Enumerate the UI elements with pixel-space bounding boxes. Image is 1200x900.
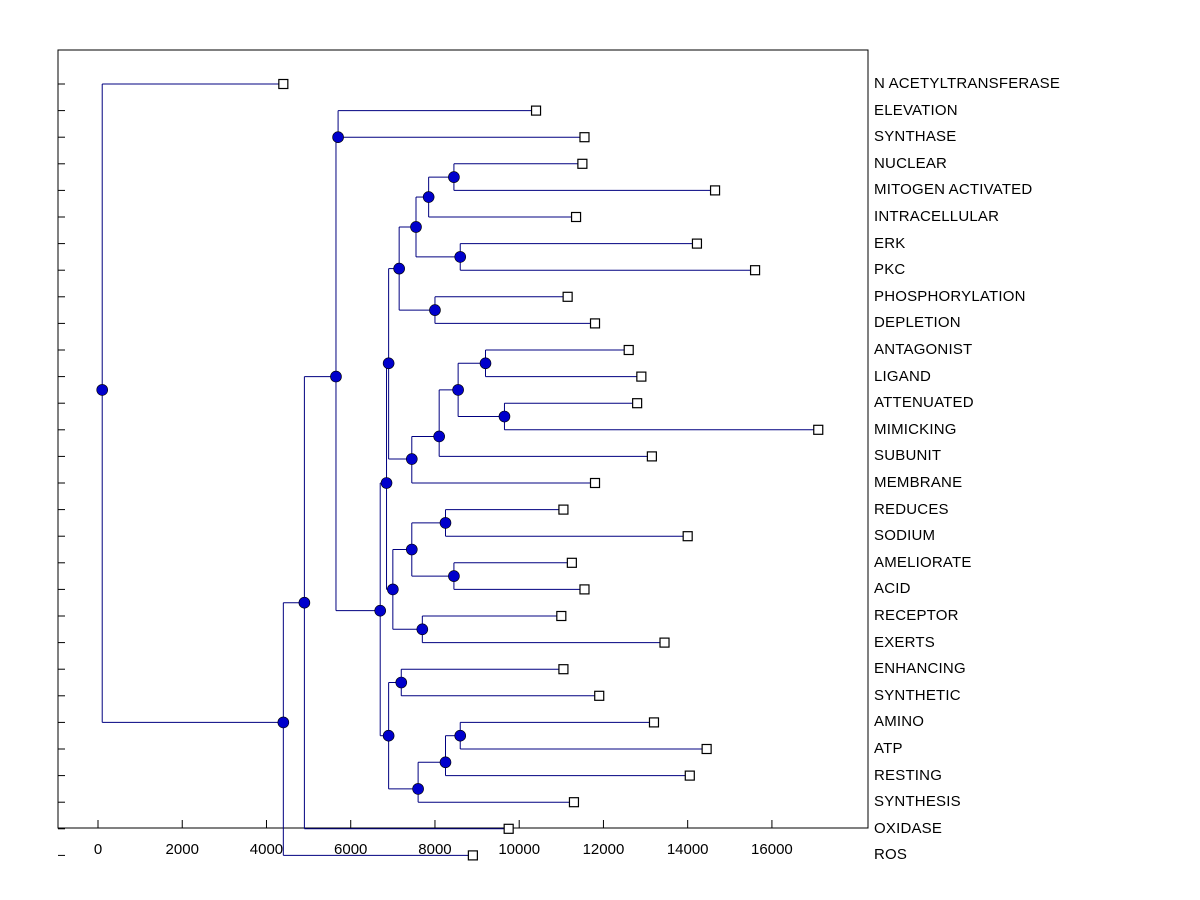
cluster-node[interactable] — [411, 221, 422, 232]
leaf-label: ATP — [874, 741, 903, 756]
x-axis-tick-label: 2000 — [166, 841, 199, 858]
cluster-node[interactable] — [330, 371, 341, 382]
leaf-label: EXERTS — [874, 635, 935, 650]
leaf-label: SYNTHESIS — [874, 794, 961, 809]
cluster-node[interactable] — [406, 454, 417, 465]
leaf-label: MIMICKING — [874, 422, 957, 437]
cluster-node[interactable] — [455, 730, 466, 741]
leaf-label: AMINO — [874, 714, 924, 729]
cluster-node[interactable] — [440, 517, 451, 528]
leaf-label: ENHANCING — [874, 661, 966, 676]
cluster-node[interactable] — [97, 384, 108, 395]
cluster-node[interactable] — [383, 358, 394, 369]
leaf-marker — [814, 425, 823, 434]
leaf-marker — [468, 851, 477, 860]
cluster-node[interactable] — [383, 730, 394, 741]
leaf-marker — [751, 266, 760, 275]
leaf-label: LIGAND — [874, 369, 931, 384]
cluster-node[interactable] — [394, 263, 405, 274]
leaf-marker — [559, 505, 568, 514]
leaf-marker — [563, 292, 572, 301]
leaf-label: ROS — [874, 847, 907, 862]
x-axis-tick-label: 4000 — [250, 841, 283, 858]
cluster-node[interactable] — [333, 132, 344, 143]
leaf-label: MITOGEN ACTIVATED — [874, 182, 1032, 197]
leaf-marker — [569, 798, 578, 807]
cluster-node[interactable] — [387, 584, 398, 595]
cluster-node[interactable] — [413, 783, 424, 794]
leaf-marker — [633, 399, 642, 408]
cluster-node[interactable] — [429, 305, 440, 316]
leaf-marker — [578, 159, 587, 168]
leaf-marker — [591, 319, 600, 328]
leaf-marker — [647, 452, 656, 461]
cluster-node[interactable] — [417, 624, 428, 635]
leaf-marker — [685, 771, 694, 780]
leaf-marker — [567, 558, 576, 567]
leaf-label: ATTENUATED — [874, 395, 974, 410]
leaf-marker — [557, 612, 566, 621]
x-axis-tick-label: 14000 — [667, 841, 709, 858]
cluster-node[interactable] — [499, 411, 510, 422]
leaf-marker — [504, 824, 513, 833]
leaf-label: RESTING — [874, 768, 942, 783]
leaf-label: RECEPTOR — [874, 608, 959, 623]
leaf-label: ACID — [874, 581, 911, 596]
leaf-label: OXIDASE — [874, 821, 942, 836]
leaf-marker — [692, 239, 701, 248]
leaf-label: DEPLETION — [874, 315, 961, 330]
leaf-marker — [532, 106, 541, 115]
cluster-node[interactable] — [396, 677, 407, 688]
leaf-marker — [711, 186, 720, 195]
leaf-label: SUBUNIT — [874, 448, 941, 463]
x-axis-tick-label: 0 — [94, 841, 102, 858]
dendrogram-figure: 0200040006000800010000120001400016000 N … — [0, 0, 1200, 900]
leaf-marker — [660, 638, 669, 647]
x-axis-tick-label: 10000 — [498, 841, 540, 858]
cluster-node[interactable] — [299, 597, 310, 608]
cluster-node[interactable] — [455, 251, 466, 262]
cluster-node[interactable] — [480, 358, 491, 369]
leaf-label: PHOSPHORYLATION — [874, 289, 1026, 304]
leaf-label: SODIUM — [874, 528, 935, 543]
cluster-node[interactable] — [434, 431, 445, 442]
leaf-label: REDUCES — [874, 502, 949, 517]
cluster-node[interactable] — [423, 192, 434, 203]
x-axis-tick-label: 12000 — [583, 841, 625, 858]
leaf-marker — [649, 718, 658, 727]
leaf-label: SYNTHETIC — [874, 688, 961, 703]
leaf-label: PKC — [874, 262, 905, 277]
cluster-node[interactable] — [381, 478, 392, 489]
leaf-label: INTRACELLULAR — [874, 209, 999, 224]
cluster-node[interactable] — [453, 384, 464, 395]
leaf-marker — [572, 213, 581, 222]
cluster-node[interactable] — [406, 544, 417, 555]
leaf-label: ERK — [874, 236, 905, 251]
leaf-marker — [279, 80, 288, 89]
leaf-marker — [683, 532, 692, 541]
leaf-label: N ACETYLTRANSFERASE — [874, 76, 1060, 91]
leaf-label: NUCLEAR — [874, 156, 947, 171]
leaf-label: MEMBRANE — [874, 475, 962, 490]
x-axis-tick-label: 16000 — [751, 841, 793, 858]
cluster-node[interactable] — [375, 605, 386, 616]
cluster-node[interactable] — [440, 757, 451, 768]
leaf-marker — [702, 745, 711, 754]
leaf-marker — [591, 479, 600, 488]
cluster-node[interactable] — [278, 717, 289, 728]
cluster-node[interactable] — [448, 571, 459, 582]
plot-frame — [58, 50, 868, 828]
leaf-label: ANTAGONIST — [874, 342, 972, 357]
leaf-marker — [624, 346, 633, 355]
leaf-marker — [559, 665, 568, 674]
leaf-marker — [580, 133, 589, 142]
leaf-label: AMELIORATE — [874, 555, 972, 570]
cluster-node[interactable] — [448, 172, 459, 183]
leaf-marker — [637, 372, 646, 381]
leaf-label: SYNTHASE — [874, 129, 956, 144]
leaf-marker — [595, 691, 604, 700]
leaf-label: ELEVATION — [874, 103, 958, 118]
dendrogram-plot: 0200040006000800010000120001400016000 — [0, 0, 1200, 900]
leaf-marker — [580, 585, 589, 594]
